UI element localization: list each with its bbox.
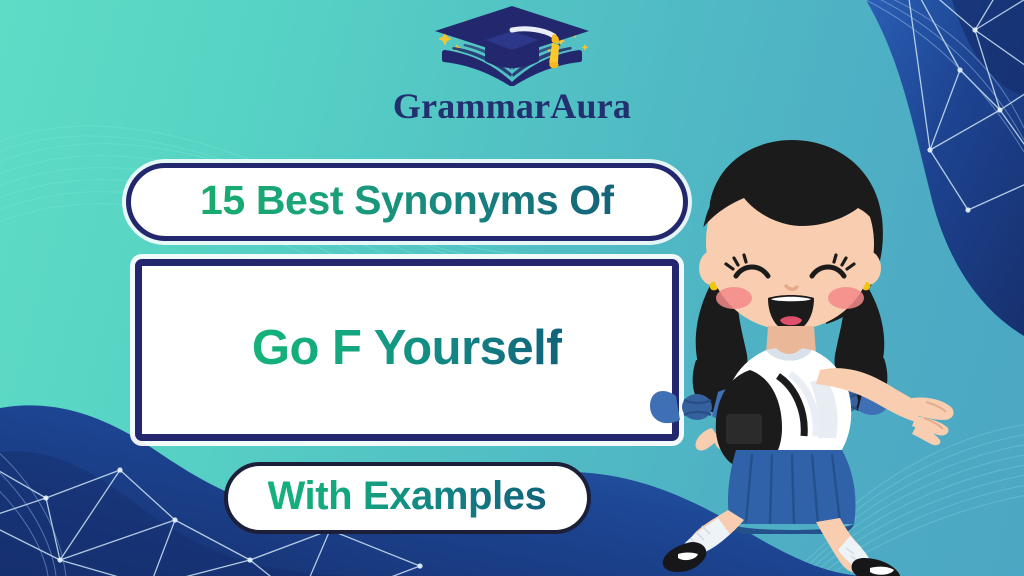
wave-lines-bottomright [754, 422, 1024, 576]
backpack-strap-left [778, 376, 804, 436]
neck [766, 326, 816, 354]
cheek-left [716, 287, 752, 309]
backpack-strap-right [790, 374, 816, 436]
mouth [768, 295, 814, 332]
backpack [716, 370, 816, 470]
nose [786, 286, 797, 289]
face [706, 160, 874, 330]
skirt-hem [730, 524, 854, 534]
braid-right [796, 284, 890, 419]
running-schoolgirl-illustration [640, 138, 960, 576]
ear-left [699, 251, 725, 285]
eyelashes [726, 255, 854, 269]
schoolgirl-svg [640, 138, 960, 576]
top-pill-text: 15 Best Synonyms Of [200, 177, 614, 228]
hand-back [695, 428, 720, 451]
shoe-back [663, 542, 707, 572]
shoe-back-strap [678, 553, 698, 561]
bottom-pill-text: With Examples [268, 474, 547, 523]
main-phrase-text: Go F Yourself [252, 320, 562, 381]
sock-front [838, 536, 871, 571]
hand-finger-lines [924, 402, 946, 429]
headline-stack: 15 Best Synonyms Of Go F Yourself With E… [126, 163, 688, 534]
earring-right [862, 282, 871, 291]
main-phrase-box: Go F Yourself [135, 259, 679, 441]
leg-front [816, 518, 900, 576]
sock-back [683, 518, 730, 556]
brand-logo-block: GrammarAura [0, 4, 1024, 124]
arm-back [715, 388, 780, 450]
earring-left [710, 282, 719, 291]
arc-lines-bottomleft [0, 430, 66, 576]
hair-front [692, 150, 886, 254]
ear-right [855, 251, 881, 285]
hand-front [910, 397, 954, 445]
shirt [725, 350, 851, 458]
shirt-shade [810, 378, 838, 438]
shoe-front [852, 558, 901, 576]
shoe-front-strap [870, 567, 894, 575]
cheek-right [828, 287, 864, 309]
hair-bow-right [796, 383, 890, 419]
hair-back [709, 140, 883, 324]
bottom-pill: With Examples [224, 462, 591, 534]
top-pill: 15 Best Synonyms Of [126, 163, 688, 241]
thumbnail-canvas: GrammarAura 15 Best Synonyms Of Go F You… [0, 0, 1024, 576]
backpack-pocket [726, 414, 762, 444]
brand-name: GrammarAura [393, 88, 631, 124]
arm-front [816, 368, 922, 422]
eyes-closed [736, 267, 844, 276]
skirt [728, 450, 856, 534]
collar [766, 348, 812, 361]
graduation-cap-book-icon [423, 4, 601, 86]
skirt-pleats [746, 454, 840, 524]
